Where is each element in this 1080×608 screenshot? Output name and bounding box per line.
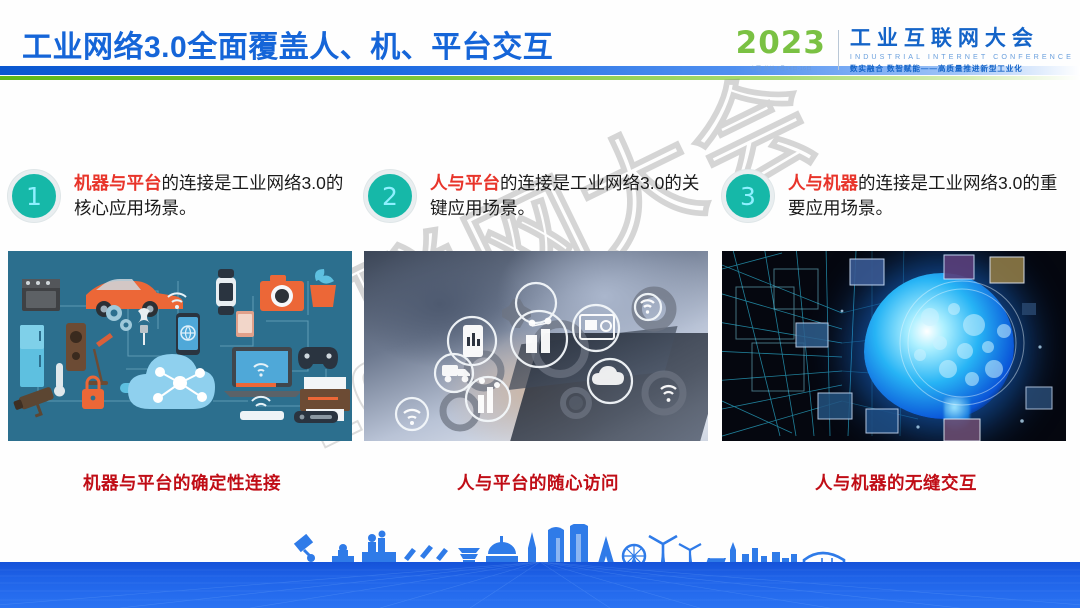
caption-2: 人与平台的随心访问	[364, 470, 712, 495]
number-badge-3: 3	[722, 170, 774, 222]
logo-year: 2023	[736, 28, 826, 59]
column-2-highlight: 人与平台	[430, 173, 500, 193]
column-1-text: 机器与平台的连接是工业网络3.0的核心应用场景。	[74, 165, 356, 221]
number-badge-2-label: 2	[382, 184, 398, 209]
ai-brain-photo	[722, 251, 1066, 441]
column-2-image	[364, 251, 708, 441]
column-3-heading: 3 人与机器的连接是工业网络3.0的重要应用场景。	[722, 165, 1070, 237]
page-title: 工业网络3.0全面覆盖人、机、平台交互	[22, 22, 553, 66]
brain-detail-svg	[722, 251, 1066, 441]
gear-icons-overlay-svg	[364, 251, 708, 441]
caption-1: 机器与平台的确定性连接	[8, 470, 356, 495]
logo-slogan: 数实融合 数智赋能——高质量推进新型工业化	[850, 63, 1074, 74]
column-3-text: 人与机器的连接是工业网络3.0的重要应用场景。	[788, 165, 1070, 221]
slide-root: 工业网络3.0全面覆盖人、机、平台交互 2023 中国·苏州 8月14日-16日…	[0, 0, 1080, 608]
iot-illustration	[8, 251, 352, 441]
logo-text-block: 工业互联网大会 INDUSTRIAL INTERNET CONFERENCE 数…	[850, 28, 1074, 74]
column-3: 3 人与机器的连接是工业网络3.0的重要应用场景。	[722, 165, 1070, 441]
column-2: 2 人与平台的连接是工业网络3.0的关键应用场景。	[364, 165, 712, 441]
iot-scene-svg	[8, 251, 352, 441]
logo-name-en: INDUSTRIAL INTERNET CONFERENCE	[850, 52, 1074, 61]
logo-year-block: 2023 中国·苏州 8月14日-16日	[736, 28, 838, 72]
logo-name-cn: 工业互联网大会	[850, 28, 1074, 50]
column-3-highlight: 人与机器	[788, 173, 858, 193]
column-1: 1 机器与平台的连接是工业网络3.0的核心应用场景。	[8, 165, 356, 441]
content-columns: 1 机器与平台的连接是工业网络3.0的核心应用场景。	[0, 165, 1080, 515]
column-2-text: 人与平台的连接是工业网络3.0的关键应用场景。	[430, 165, 712, 221]
perspective-grid	[0, 562, 1080, 608]
conference-logo: 2023 中国·苏州 8月14日-16日 工业互联网大会 INDUSTRIAL …	[736, 28, 1074, 80]
column-3-image	[722, 251, 1066, 441]
slide-footer	[0, 530, 1080, 608]
hands-laptop-photo	[364, 251, 708, 441]
number-badge-3-label: 3	[740, 184, 756, 209]
logo-date: 中国·苏州 8月14日-16日	[738, 64, 824, 72]
number-badge-1-label: 1	[26, 184, 42, 209]
column-1-image	[8, 251, 352, 441]
number-badge-1: 1	[8, 170, 60, 222]
caption-3: 人与机器的无缝交互	[722, 470, 1070, 495]
slide-header: 工业网络3.0全面覆盖人、机、平台交互 2023 中国·苏州 8月14日-16日…	[0, 0, 1080, 100]
column-2-heading: 2 人与平台的连接是工业网络3.0的关键应用场景。	[364, 165, 712, 237]
logo-divider	[838, 30, 839, 70]
column-1-heading: 1 机器与平台的连接是工业网络3.0的核心应用场景。	[8, 165, 356, 237]
number-badge-2: 2	[364, 170, 416, 222]
column-1-highlight: 机器与平台	[74, 173, 162, 193]
